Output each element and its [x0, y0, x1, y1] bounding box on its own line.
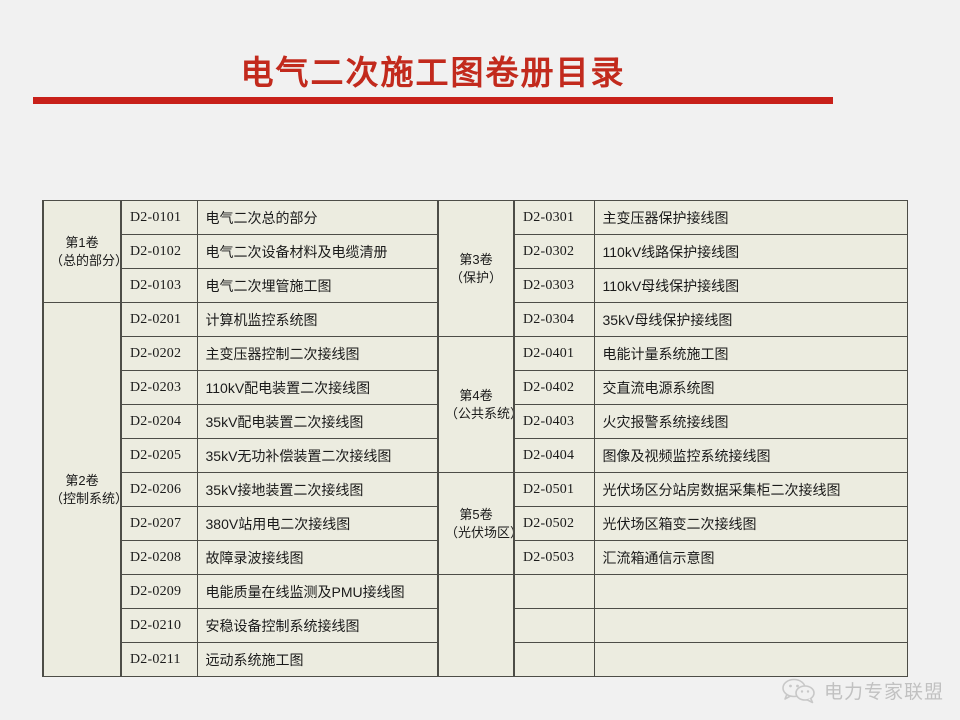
- drawing-title-cell: 主变压器控制二次接线图: [197, 337, 438, 371]
- drawing-code-cell: D2-0503: [514, 541, 594, 575]
- drawing-title-cell: 故障录波接线图: [197, 541, 438, 575]
- title-block: 电气二次施工图卷册目录: [0, 52, 960, 112]
- drawing-title-cell: 安稳设备控制系统接线图: [197, 609, 438, 643]
- drawing-code-cell: D2-0210: [121, 609, 197, 643]
- drawing-code-cell: [514, 575, 594, 609]
- drawing-code-cell: D2-0209: [121, 575, 197, 609]
- volume-name: 第4卷: [445, 387, 507, 405]
- drawing-title-cell: 电能质量在线监测及PMU接线图: [197, 575, 438, 609]
- volume-catalog-table: 第1卷（总的部分）D2-0101电气二次总的部分第3卷（保护）D2-0301主变…: [42, 200, 908, 677]
- drawing-code-cell: D2-0207: [121, 507, 197, 541]
- volume-group-cell: 第5卷（光伏场区）: [438, 473, 514, 575]
- volume-name: 第5卷: [445, 506, 507, 524]
- drawing-title-cell: 远动系统施工图: [197, 643, 438, 677]
- drawing-code-cell: [514, 643, 594, 677]
- volume-name: 第3卷: [445, 251, 507, 269]
- drawing-title-cell: 380V站用电二次接线图: [197, 507, 438, 541]
- volume-group-cell: 第3卷（保护）: [438, 201, 514, 337]
- drawing-code-cell: D2-0208: [121, 541, 197, 575]
- volume-subtitle: （总的部分）: [50, 252, 114, 270]
- drawing-code-cell: D2-0402: [514, 371, 594, 405]
- drawing-code-cell: D2-0206: [121, 473, 197, 507]
- drawing-title-cell: 电气二次埋管施工图: [197, 269, 438, 303]
- drawing-title-cell: 110kV配电装置二次接线图: [197, 371, 438, 405]
- drawing-code-cell: D2-0203: [121, 371, 197, 405]
- watermark-label: 电力专家联盟: [824, 677, 944, 704]
- drawing-code-cell: D2-0301: [514, 201, 594, 235]
- drawing-code-cell: D2-0102: [121, 235, 197, 269]
- page-title: 电气二次施工图卷册目录: [0, 52, 866, 96]
- drawing-title-cell: 光伏场区箱变二次接线图: [594, 507, 907, 541]
- drawing-code-cell: D2-0101: [121, 201, 197, 235]
- title-underline-rule: [33, 97, 833, 104]
- volume-group-cell: 第2卷（控制系统）: [43, 303, 121, 677]
- wechat-icon: [782, 678, 816, 704]
- drawing-code-cell: D2-0205: [121, 439, 197, 473]
- volume-name: 第2卷: [50, 472, 114, 490]
- drawing-code-cell: D2-0202: [121, 337, 197, 371]
- table-row: D2-020635kV接地装置二次接线图第5卷（光伏场区）D2-0501光伏场区…: [43, 473, 907, 507]
- drawing-code-cell: D2-0304: [514, 303, 594, 337]
- drawing-title-cell: 电气二次设备材料及电缆清册: [197, 235, 438, 269]
- volume-subtitle: （光伏场区）: [445, 524, 507, 542]
- volume-name: 第1卷: [50, 234, 114, 252]
- drawing-code-cell: D2-0401: [514, 337, 594, 371]
- drawing-code-cell: D2-0403: [514, 405, 594, 439]
- volume-subtitle: （公共系统）: [445, 405, 507, 423]
- drawing-title-cell: 35kV无功补偿装置二次接线图: [197, 439, 438, 473]
- volume-subtitle: （控制系统）: [50, 490, 114, 508]
- drawing-code-cell: D2-0502: [514, 507, 594, 541]
- drawing-title-cell: 光伏场区分站房数据采集柜二次接线图: [594, 473, 907, 507]
- drawing-title-cell: 火灾报警系统接线图: [594, 405, 907, 439]
- drawing-title-cell: [594, 643, 907, 677]
- drawing-title-cell: 110kV线路保护接线图: [594, 235, 907, 269]
- drawing-title-cell: 35kV母线保护接线图: [594, 303, 907, 337]
- table-row: D2-0209电能质量在线监测及PMU接线图: [43, 575, 907, 609]
- drawing-title-cell: 图像及视频监控系统接线图: [594, 439, 907, 473]
- table-row: 第1卷（总的部分）D2-0101电气二次总的部分第3卷（保护）D2-0301主变…: [43, 201, 907, 235]
- drawing-title-cell: 110kV母线保护接线图: [594, 269, 907, 303]
- drawing-title-cell: 主变压器保护接线图: [594, 201, 907, 235]
- drawing-title-cell: [594, 609, 907, 643]
- drawing-code-cell: D2-0302: [514, 235, 594, 269]
- drawing-code-cell: [514, 609, 594, 643]
- drawing-code-cell: D2-0201: [121, 303, 197, 337]
- drawing-title-cell: [594, 575, 907, 609]
- volume-group-cell: 第1卷（总的部分）: [43, 201, 121, 303]
- drawing-title-cell: 电气二次总的部分: [197, 201, 438, 235]
- drawing-title-cell: 35kV配电装置二次接线图: [197, 405, 438, 439]
- volume-group-cell: 第4卷（公共系统）: [438, 337, 514, 473]
- drawing-title-cell: 交直流电源系统图: [594, 371, 907, 405]
- drawing-code-cell: D2-0404: [514, 439, 594, 473]
- drawing-code-cell: D2-0501: [514, 473, 594, 507]
- drawing-code-cell: D2-0303: [514, 269, 594, 303]
- volume-group-cell: [438, 575, 514, 677]
- drawing-code-cell: D2-0204: [121, 405, 197, 439]
- drawing-code-cell: D2-0103: [121, 269, 197, 303]
- drawing-title-cell: 35kV接地装置二次接线图: [197, 473, 438, 507]
- drawing-code-cell: D2-0211: [121, 643, 197, 677]
- drawing-title-cell: 汇流箱通信示意图: [594, 541, 907, 575]
- drawing-title-cell: 计算机监控系统图: [197, 303, 438, 337]
- volume-subtitle: （保护）: [445, 269, 507, 287]
- table-row: D2-0202主变压器控制二次接线图第4卷（公共系统）D2-0401电能计量系统…: [43, 337, 907, 371]
- watermark: 电力专家联盟: [782, 677, 944, 704]
- drawing-title-cell: 电能计量系统施工图: [594, 337, 907, 371]
